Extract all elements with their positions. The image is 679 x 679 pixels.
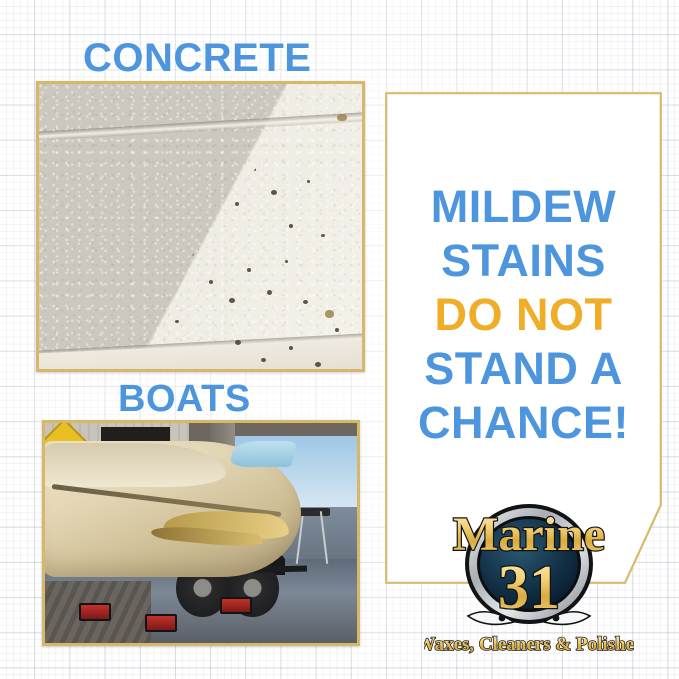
message-line-1: MILDEW	[385, 184, 662, 229]
marine-31-logo: Marine 31 Waxes, Cleaners & Polishes	[424, 498, 634, 660]
trailer-taillight-center	[145, 614, 177, 631]
message-line-5: CHANCE!	[385, 400, 662, 445]
boat-windshield	[229, 441, 298, 467]
section-label-boats: BOATS	[118, 380, 251, 418]
logo-number: 31	[498, 554, 560, 622]
trailer-taillight-right	[220, 597, 252, 614]
message-text-block: MILDEW STAINS DO NOT STAND A CHANCE!	[385, 184, 662, 454]
trailer-taillight-left	[79, 603, 111, 620]
boat-on-trailer-photo	[42, 420, 360, 646]
message-line-2: STAINS	[385, 238, 662, 283]
message-line-3-accent: DO NOT	[385, 292, 662, 337]
boat-scene	[45, 423, 357, 643]
message-line-4: STAND A	[385, 346, 662, 391]
section-label-concrete: CONCRETE	[83, 38, 311, 78]
concrete-wall-before-after-photo	[36, 81, 365, 372]
promo-graphic: CONCRETE	[0, 0, 679, 679]
logo-tagline: Waxes, Cleaners & Polishes	[424, 634, 634, 655]
